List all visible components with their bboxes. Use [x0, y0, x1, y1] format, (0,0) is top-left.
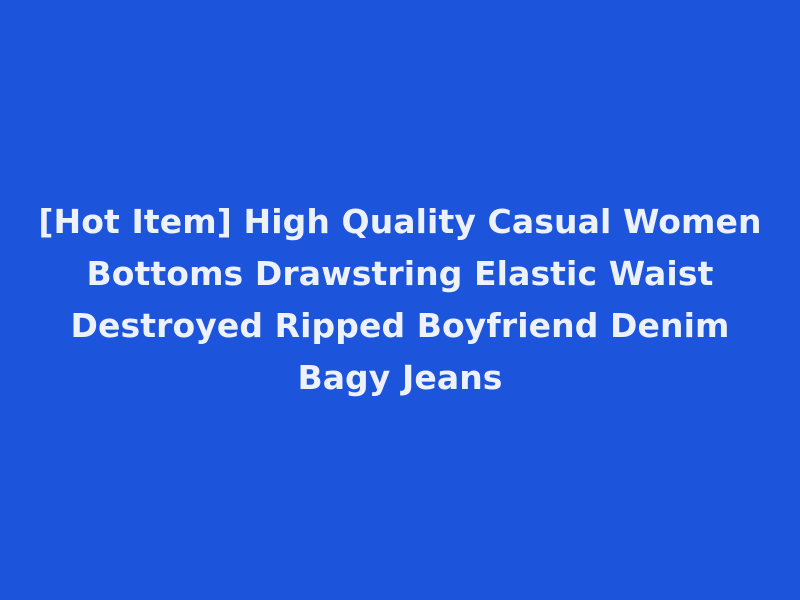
product-title-line-1: [Hot Item] High Quality Casual Women	[20, 196, 780, 248]
product-title: [Hot Item] High Quality Casual Women Bot…	[20, 196, 780, 404]
product-title-line-3: Destroyed Ripped Boyfriend Denim	[20, 300, 780, 352]
product-title-line-4: Bagy Jeans	[20, 352, 780, 404]
title-card: [Hot Item] High Quality Casual Women Bot…	[0, 0, 800, 600]
product-title-line-2: Bottoms Drawstring Elastic Waist	[20, 248, 780, 300]
